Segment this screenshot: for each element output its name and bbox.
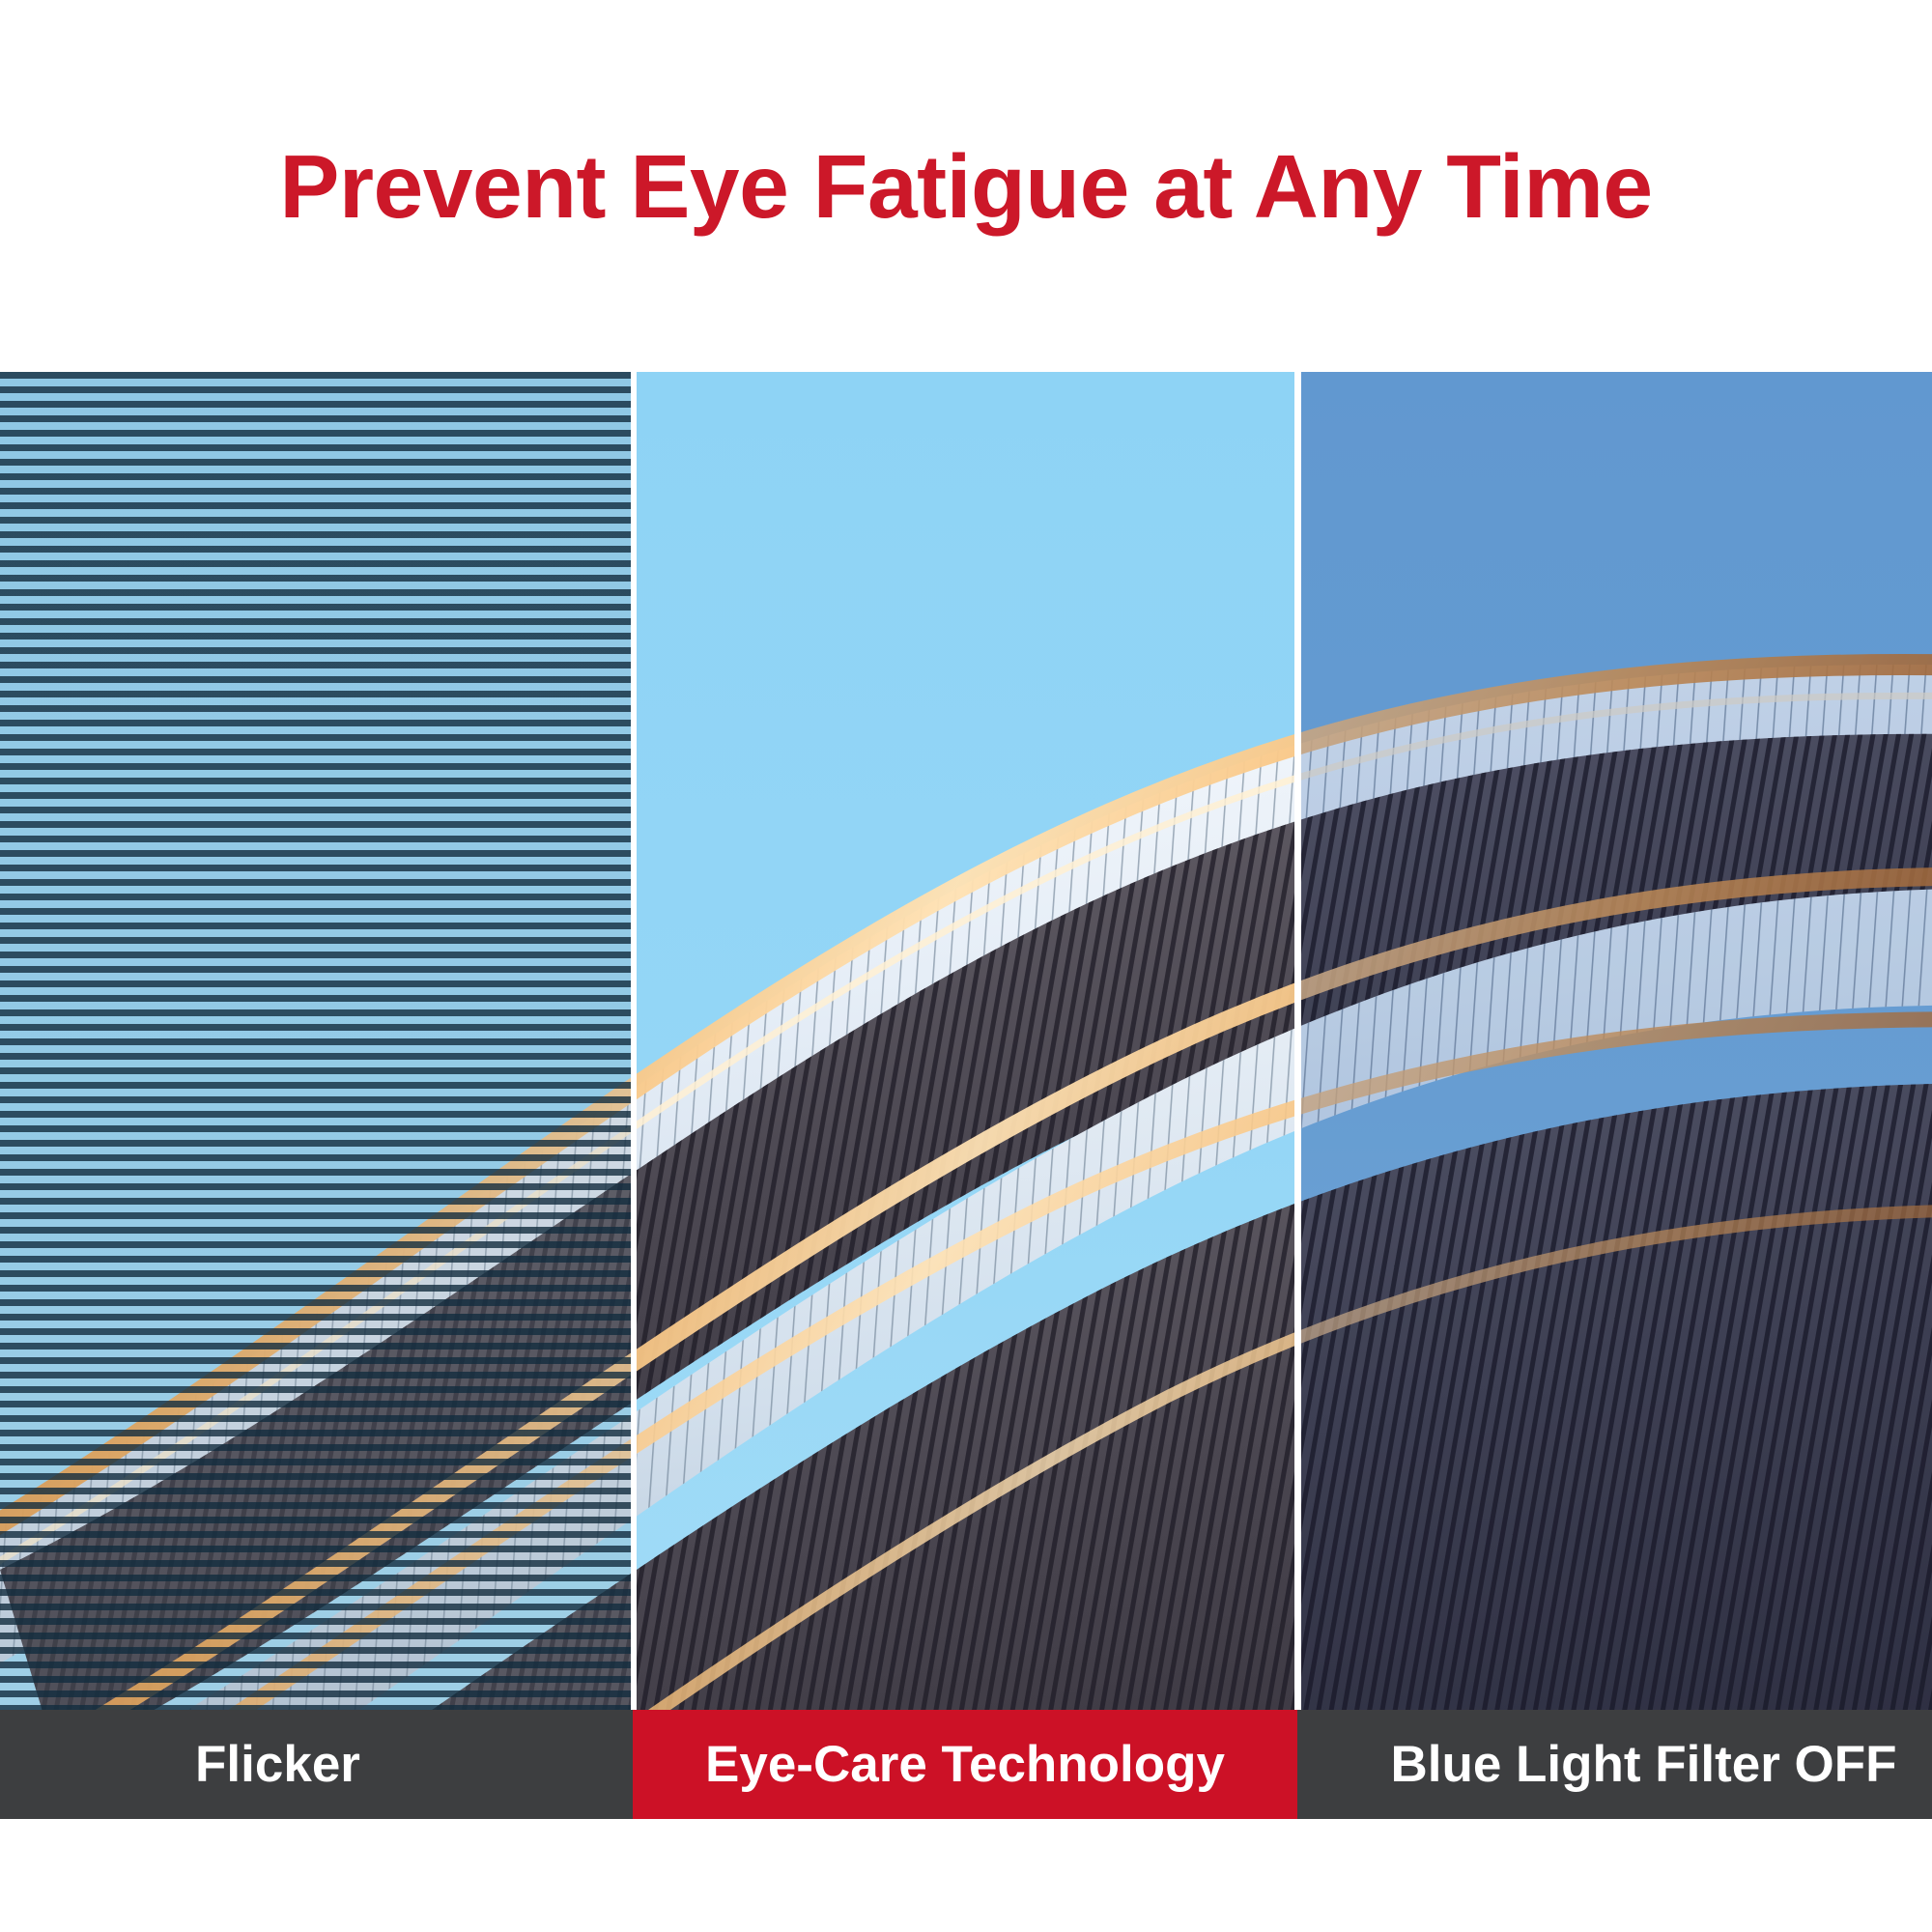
building-artwork bbox=[1301, 430, 1932, 1710]
comparison-label-bar: Flicker Eye-Care Technology Blue Light F… bbox=[0, 1710, 1932, 1819]
promo-image-root: Prevent Eye Fatigue at Any Time bbox=[0, 0, 1932, 1932]
label-eye-care-text: Eye-Care Technology bbox=[705, 1735, 1225, 1794]
panel-blue-light-filter-off bbox=[1301, 372, 1932, 1710]
panel-flicker bbox=[0, 372, 631, 1710]
label-blue-light-filter-off[interactable]: Blue Light Filter OFF bbox=[1297, 1710, 1932, 1819]
label-flicker-text: Flicker bbox=[195, 1735, 360, 1794]
panel-divider-2 bbox=[1294, 372, 1301, 1710]
panel-eye-care-technology bbox=[637, 372, 1294, 1710]
comparison-strip bbox=[0, 372, 1932, 1710]
building-artwork bbox=[637, 430, 1294, 1710]
label-flicker[interactable]: Flicker bbox=[0, 1710, 633, 1819]
label-eye-care-technology[interactable]: Eye-Care Technology bbox=[633, 1710, 1297, 1819]
page-title: Prevent Eye Fatigue at Any Time bbox=[0, 137, 1932, 236]
scene-eye-care bbox=[637, 372, 1294, 1710]
scene-blue-light-off bbox=[1301, 372, 1932, 1710]
label-blue-light-text: Blue Light Filter OFF bbox=[1390, 1735, 1896, 1794]
scene-flicker bbox=[0, 372, 631, 1710]
building-artwork bbox=[0, 430, 631, 1710]
